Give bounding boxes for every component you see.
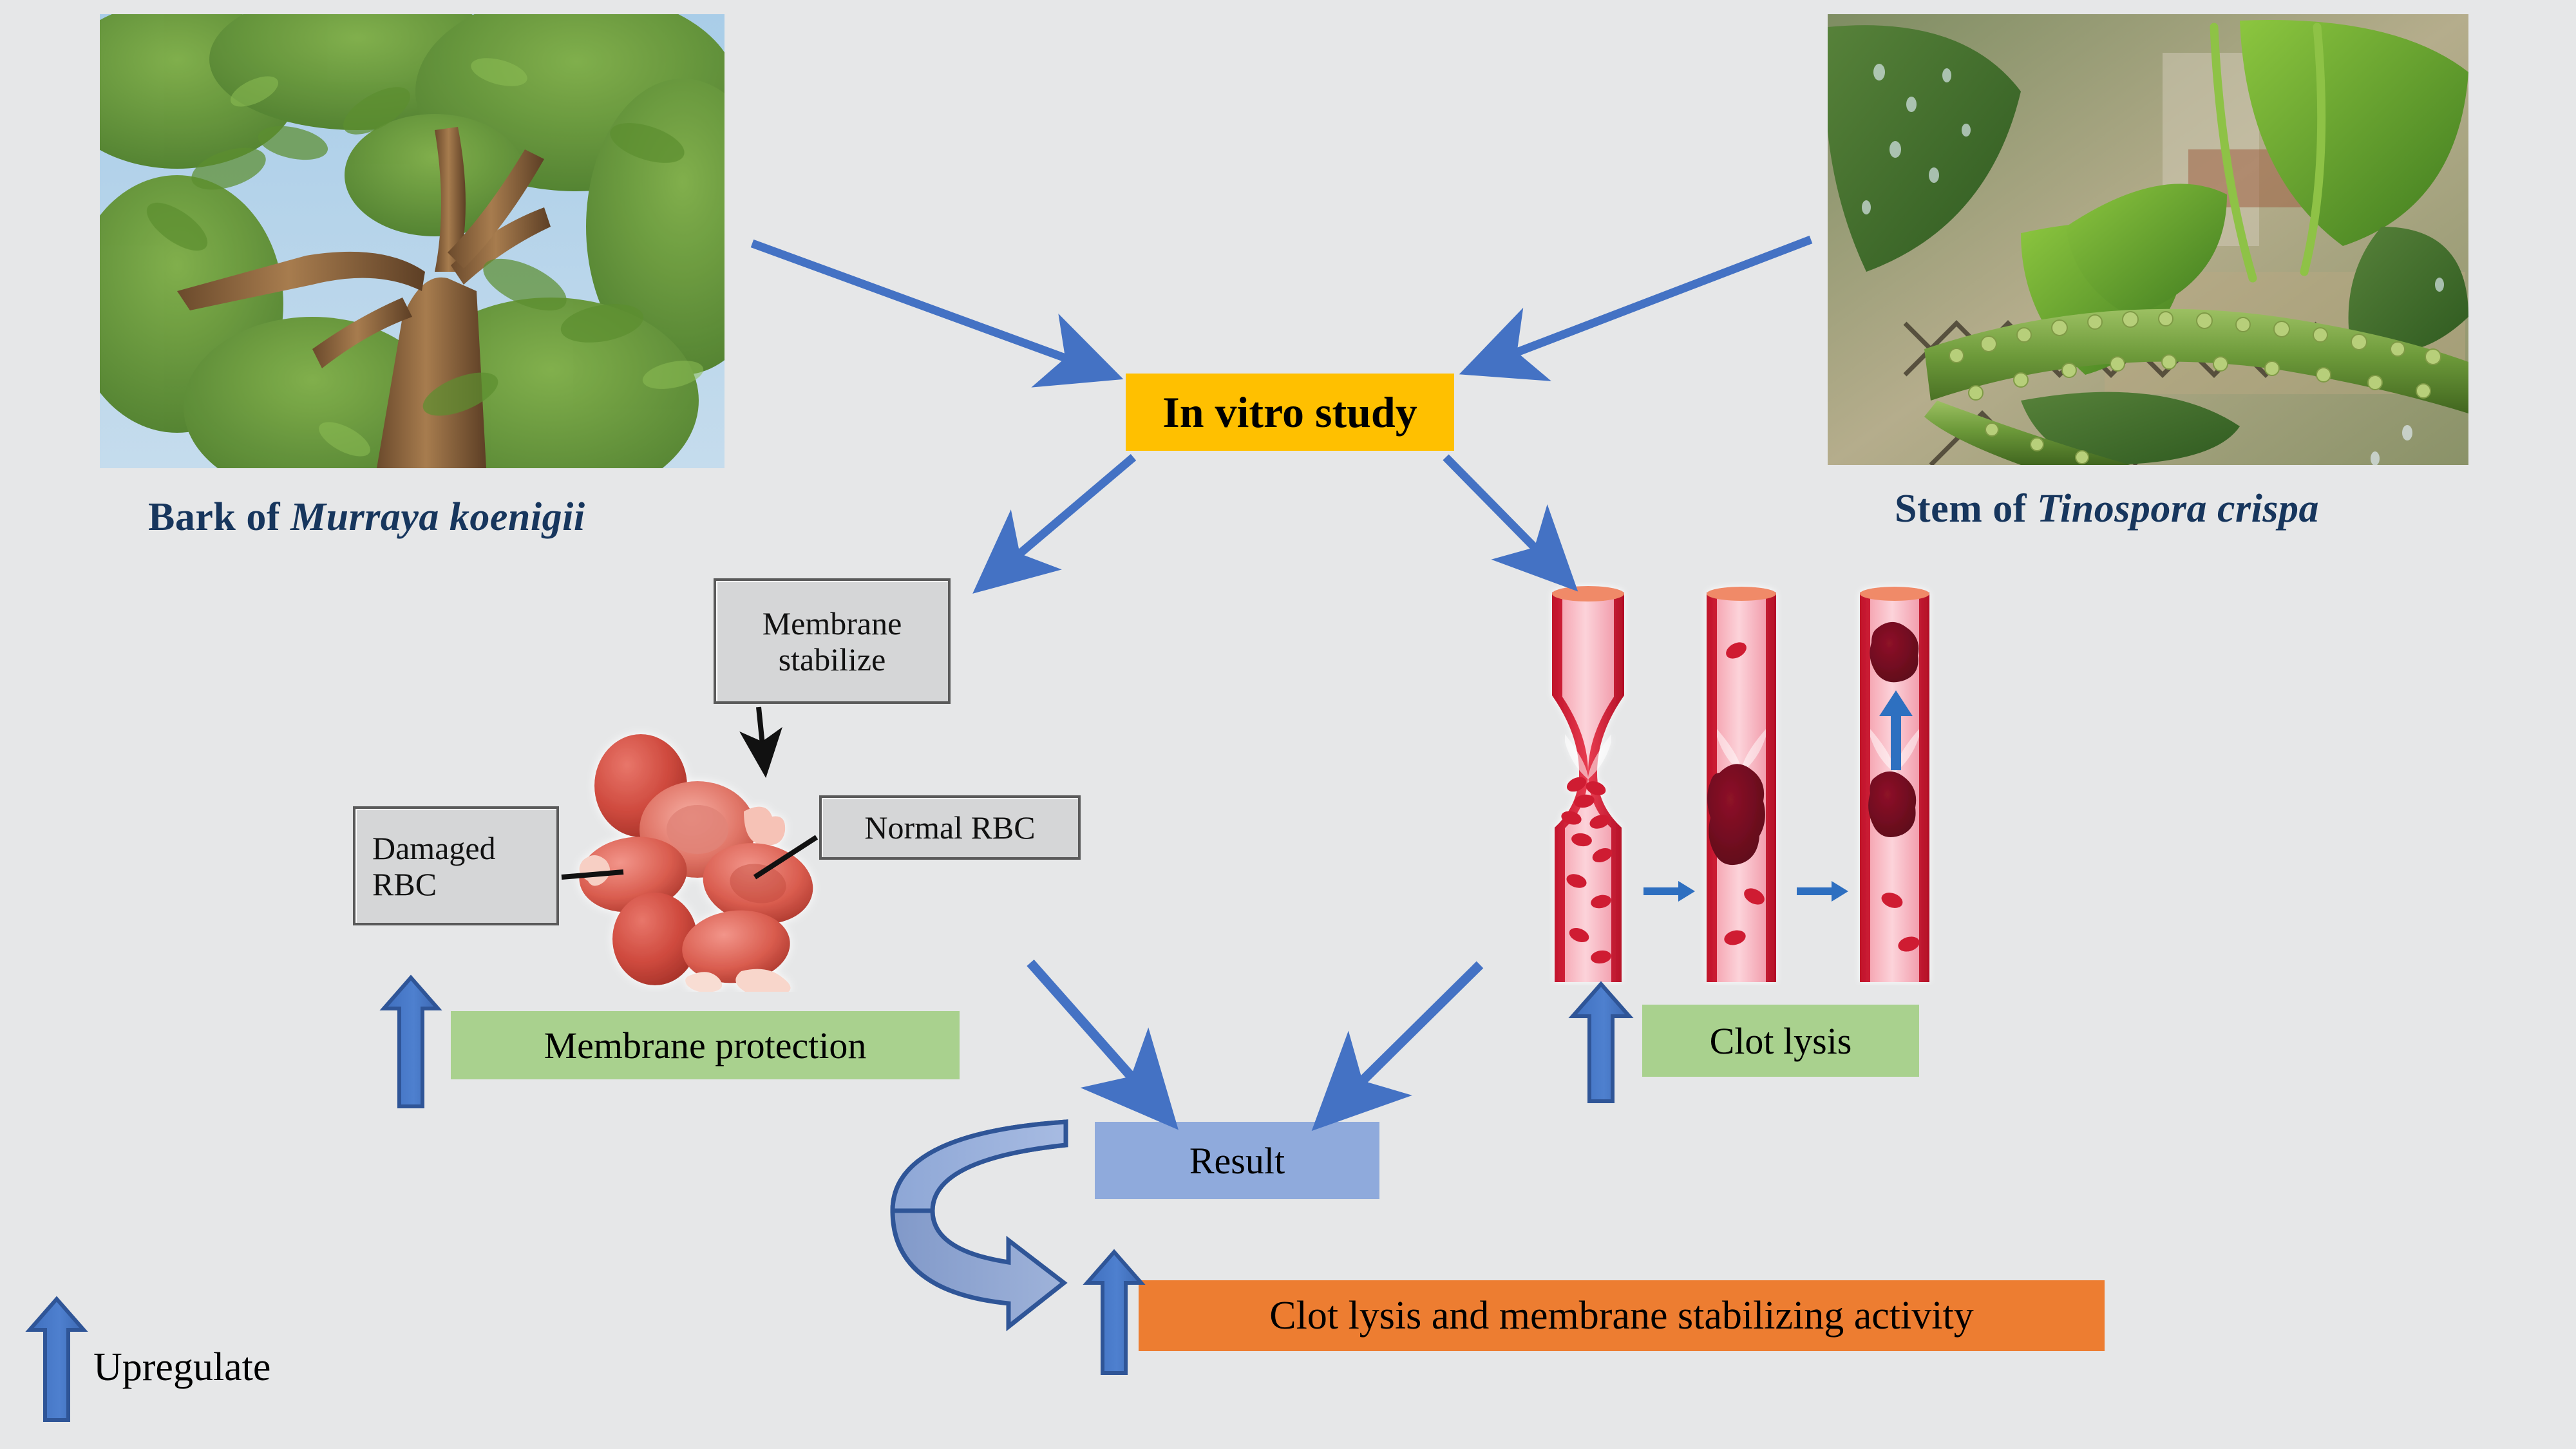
result-box: Result [1095,1122,1379,1199]
in-vitro-study-label: In vitro study [1162,387,1417,438]
arrow-vessel-to-result [1325,965,1480,1117]
arrow-invitro-to-rbc-branch [985,457,1133,583]
photo-tinospora-crispa [1828,14,2468,465]
final-activity-label: Clot lysis and membrane stabilizing acti… [1269,1293,1973,1339]
final-activity-banner: Clot lysis and membrane stabilizing acti… [1139,1280,2105,1351]
callout-normal-rbc: Normal RBC [819,795,1081,860]
upregulate-arrow-membrane-protection [384,978,438,1106]
figure-canvas: Bark of Murraya koenigii [0,0,2576,1449]
result-label: Result [1189,1139,1285,1182]
clot-lysis-label: Clot lysis [1710,1019,1852,1063]
legend-upregulate-label: Upregulate [93,1345,270,1390]
callout-membrane-stabilize-line1: Membrane [762,605,902,641]
caption-prefix-left: Bark of [148,495,290,539]
arrow-rbc-to-result [1030,963,1166,1115]
membrane-protection-tag: Membrane protection [451,1011,960,1079]
rbc-cluster-illustration [551,715,853,992]
photo-murraya-koenigii [100,14,724,468]
arrow-left-photo-to-invitro [752,243,1108,374]
clot-lysis-tag: Clot lysis [1642,1005,1919,1077]
callout-normal-rbc-label: Normal RBC [864,810,1035,846]
arrow-invitro-to-vessel-branch [1446,457,1566,580]
in-vitro-study-box: In vitro study [1126,374,1454,451]
callout-damaged-rbc-line1: Damaged [372,830,496,866]
callout-membrane-stabilize-line2: stabilize [779,641,886,677]
caption-prefix-right: Stem of [1895,487,2037,531]
caption-tinospora-crispa: Stem of Tinospora crispa [1895,486,2319,532]
membrane-protection-label: Membrane protection [544,1024,867,1067]
caption-species-left: Murraya koenigii [290,495,585,539]
arrow-right-photo-to-invitro [1475,240,1811,368]
upregulate-arrow-final-banner [1087,1252,1141,1373]
callout-damaged-rbc: Damaged RBC [353,806,559,925]
callout-damaged-rbc-line2: RBC [372,866,437,902]
upregulate-arrow-clot-lysis [1573,984,1629,1101]
callout-membrane-stabilize: Membrane stabilize [714,578,951,704]
caption-murraya-koenigii: Bark of Murraya koenigii [148,495,585,540]
caption-species-right: Tinospora crispa [2037,487,2319,531]
curved-result-to-banner-arrow [893,1122,1066,1327]
blood-vessel-illustration [1546,580,1958,985]
legend-up-arrow-icon [30,1299,84,1420]
